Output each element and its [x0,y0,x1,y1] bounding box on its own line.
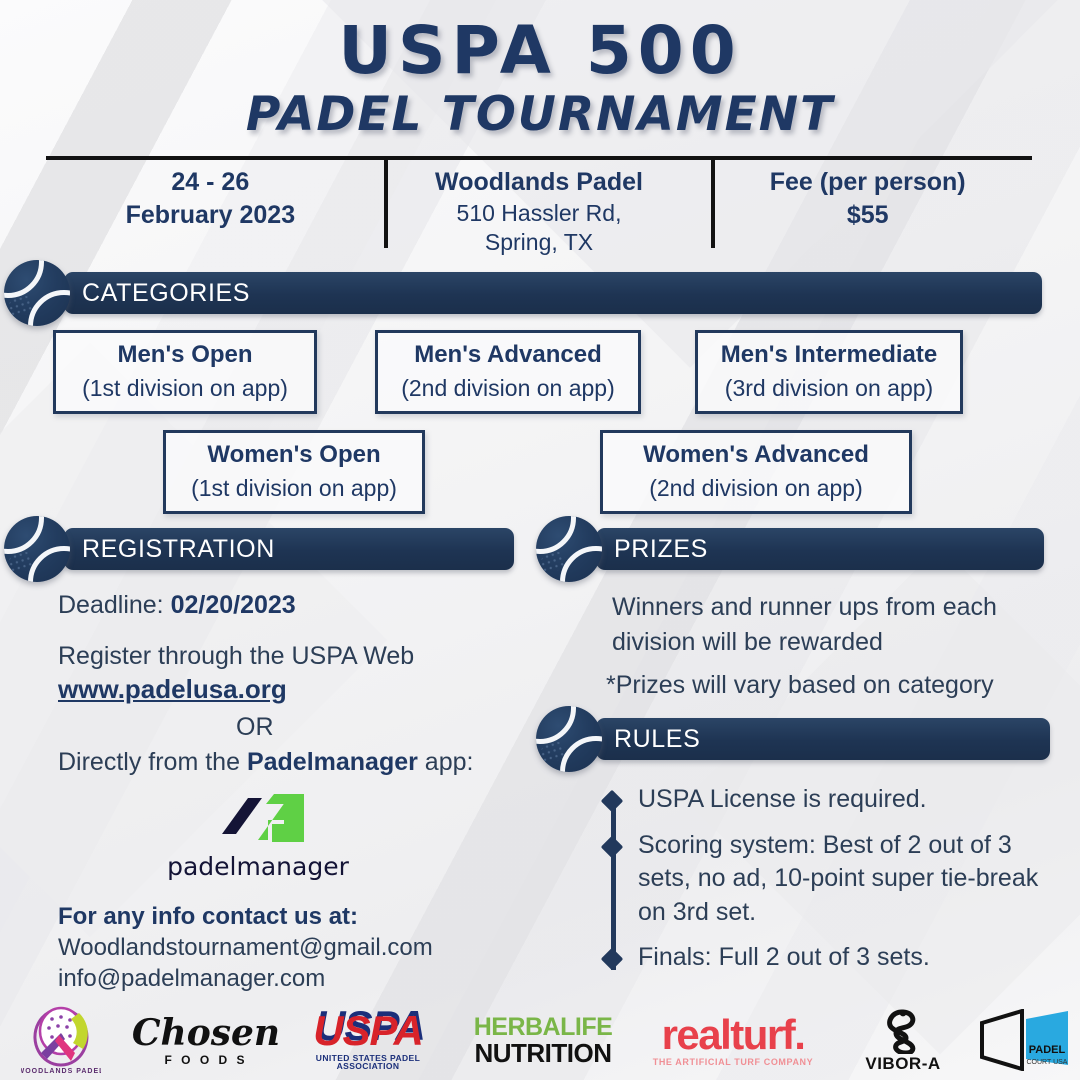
padelmanager-wordmark: padelmanager [158,852,358,881]
category-box[interactable]: Women's Advanced (2nd division on app) [600,430,912,514]
rule-text: USPA License is required. [638,785,927,813]
section-header-registration: REGISTRATION [4,528,514,570]
section-title: PRIZES [614,528,708,570]
fee-label: Fee (per person) [703,166,1032,199]
fee-value: $55 [703,199,1032,232]
rule-text: Scoring system: Best of 2 out of 3 sets,… [638,831,1038,926]
tennis-ball-icon [536,516,602,582]
title-line-2: PADEL TOURNAMENT [0,90,1080,139]
herbalife-wordmark: HERBALIFE [474,1015,613,1040]
date-range: 24 - 26 [46,166,375,199]
venue-name: Woodlands Padel [375,166,704,199]
prizes-line-1: Winners and runner ups from each [612,589,997,625]
registration-or: OR [236,710,274,746]
poster-title: USPA 500 PADEL TOURNAMENT [0,18,1080,139]
website-url[interactable]: www.padelusa.org [58,674,287,704]
tennis-ball-icon [4,260,70,326]
poster-canvas: USPA 500 PADEL TOURNAMENT 24 - 26 Februa… [0,0,1080,1080]
tennis-ball-icon [536,706,602,772]
info-bar: 24 - 26 February 2023 Woodlands Padel 51… [46,160,1032,252]
padel-court-usa-logo-icon: PADEL COURT USA [976,1009,1072,1071]
section-title: REGISTRATION [82,528,275,570]
woodlands-padel-logo-icon: WOODLANDS PADEL [21,1003,101,1077]
uspa-subtitle: UNITED STATES PADEL ASSOCIATION [288,1054,448,1071]
sponsor-herbalife: HERBALIFE NUTRITION [458,1000,628,1080]
date-month-year: February 2023 [46,199,375,232]
venue-city: Spring, TX [375,228,704,257]
category-box[interactable]: Women's Open (1st division on app) [163,430,425,514]
realturf-wordmark: realturf. [662,1014,805,1056]
deadline-value: 02/20/2023 [171,591,296,619]
prizes-line-2: division will be rewarded [612,624,883,660]
diamond-bullet-icon [601,790,624,813]
info-cell-venue: Woodlands Padel 510 Hassler Rd, Spring, … [375,160,704,252]
diamond-bullet-icon [601,948,624,971]
category-division: (1st division on app) [56,374,314,404]
svg-text:COURT USA: COURT USA [1027,1059,1068,1066]
prizes-note: *Prizes will vary based on category [606,667,994,703]
diamond-bullet-icon [601,835,624,858]
rules-list: USPA License is required. Scoring system… [604,783,1050,987]
deadline-label: Deadline: [58,591,171,619]
section-header-rules: RULES [536,718,1050,760]
category-name: Women's Advanced [603,440,909,470]
sponsor-uspa: USPA UNITED STATES PADEL ASSOCIATION [288,1000,448,1080]
vibor-a-wordmark: VIBOR-A [865,1055,940,1072]
registration-instructions: Register through the USPA Web [58,639,414,675]
vibor-a-snake-icon [872,1008,934,1054]
tennis-ball-icon [4,516,70,582]
svg-text:WOODLANDS PADEL: WOODLANDS PADEL [21,1068,101,1075]
category-box[interactable]: Men's Intermediate (3rd division on app) [695,330,963,414]
section-header-categories: CATEGORIES [4,272,1042,314]
category-box[interactable]: Men's Advanced (2nd division on app) [375,330,641,414]
category-name: Men's Advanced [378,340,638,370]
rule-item: USPA License is required. [604,783,1050,817]
venue-street: 510 Hassler Rd, [375,199,704,228]
category-name: Women's Open [166,440,422,470]
sponsor-padel-court-usa: PADEL COURT USA [972,1000,1076,1080]
title-line-1: USPA 500 [0,18,1080,84]
rule-text: Finals: Full 2 out of 3 sets. [638,943,930,971]
info-cell-fee: Fee (per person) $55 [703,160,1032,252]
registration-app-line: Directly from the Padelmanager app: [58,745,473,781]
rule-item: Scoring system: Best of 2 out of 3 sets,… [604,829,1050,930]
section-title: CATEGORIES [82,272,250,314]
sponsor-realturf: realturf. THE ARTIFICIAL TURF COMPANY [638,1000,828,1080]
info-cell-dates: 24 - 26 February 2023 [46,160,375,252]
registration-website-link[interactable]: www.padelusa.org [58,674,287,705]
svg-text:PADEL: PADEL [1029,1044,1066,1056]
padelmanager-logo: padelmanager [158,790,358,890]
sponsor-chosen-foods: Chosen F O O D S [126,1000,286,1080]
chosen-wordmark: Chosen [132,1015,280,1051]
rule-item: Finals: Full 2 out of 3 sets. [604,941,1050,975]
section-title: RULES [614,718,700,760]
category-box[interactable]: Men's Open (1st division on app) [53,330,317,414]
herbalife-subtitle: NUTRITION [474,1040,611,1066]
contact-email-2[interactable]: info@padelmanager.com [58,965,325,993]
contact-email-1[interactable]: Woodlandstournament@gmail.com [58,934,433,962]
realturf-subtitle: THE ARTIFICIAL TURF COMPANY [653,1058,814,1067]
category-division: (1st division on app) [166,474,422,504]
sponsor-woodlands-padel: WOODLANDS PADEL [6,1000,116,1080]
section-header-prizes: PRIZES [536,528,1044,570]
padelmanager-mark [158,790,358,852]
category-division: (2nd division on app) [603,474,909,504]
contact-heading: For any info contact us at: [58,903,358,931]
sponsor-bar: WOODLANDS PADEL Chosen F O O D S USPA UN… [0,1000,1080,1080]
uspa-wordmark: USPA [313,1010,423,1052]
app-text-before: Directly from the [58,748,247,776]
category-name: Men's Open [56,340,314,370]
app-name: Padelmanager [247,748,418,776]
sponsor-vibor-a: VIBOR-A [838,1000,968,1080]
category-division: (2nd division on app) [378,374,638,404]
registration-deadline: Deadline: 02/20/2023 [58,588,296,624]
category-name: Men's Intermediate [698,340,960,370]
app-text-after: app: [418,748,474,776]
category-division: (3rd division on app) [698,374,960,404]
chosen-subtitle: F O O D S [164,1054,247,1066]
